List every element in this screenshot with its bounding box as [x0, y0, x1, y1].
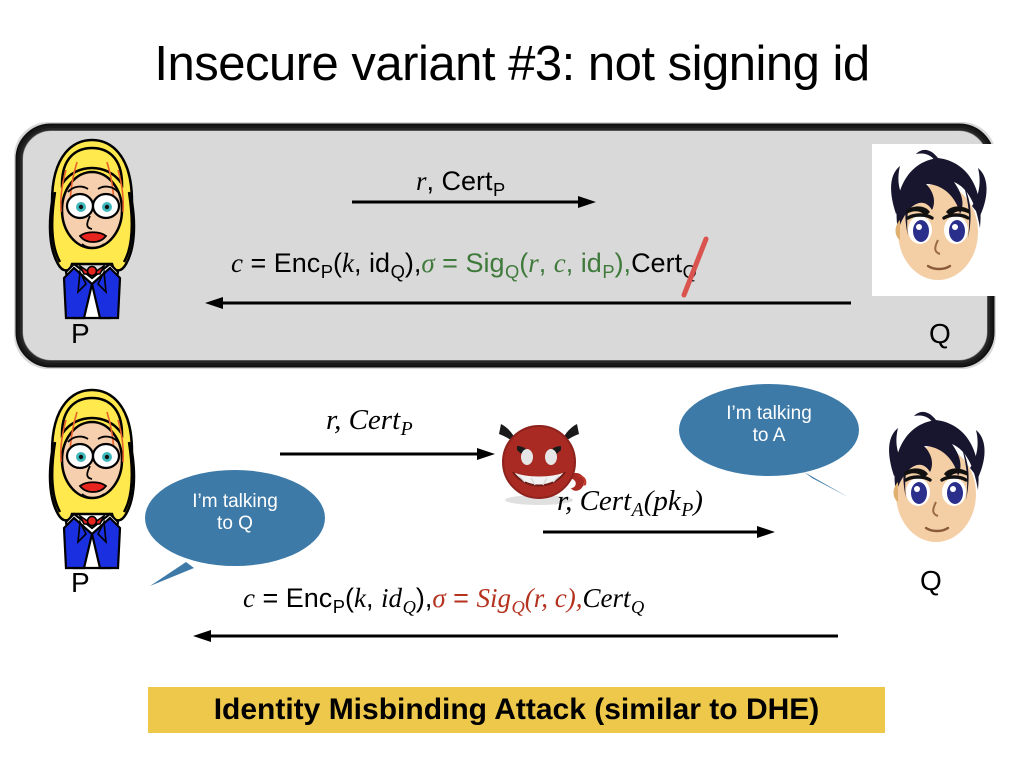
arrow-q-to-p-1 — [205, 296, 851, 310]
speech-bubble-q-text: I’m talking to A — [676, 403, 862, 448]
protocol-message-2: c = EncP(k, idQ),σ = SigQ(r, c, idP),Cer… — [231, 250, 697, 281]
arrow-attacker-to-q — [543, 525, 775, 539]
speech-bubble-q: I’m talking to A — [676, 380, 862, 497]
party-label-p-top: P — [71, 318, 90, 350]
avatar-p-blonde-woman — [22, 132, 162, 320]
speech-bubble-p: I’m talking to Q — [142, 466, 328, 586]
page-title: Insecure variant #3: not signing id — [0, 36, 1024, 92]
arrow-p-to-attacker — [280, 447, 495, 461]
speech-bubble-p-text: I’m talking to Q — [142, 491, 328, 536]
attack-message-3: c = EncP(k, idQ),σ = SigQ(r, c),CertQ — [243, 585, 644, 616]
arrow-q-to-p-attack — [193, 629, 838, 643]
party-label-q-top: Q — [929, 318, 951, 350]
attack-banner: Identity Misbinding Attack (similar to D… — [148, 687, 885, 733]
party-label-q-bottom: Q — [920, 565, 942, 597]
attack-banner-text: Identity Misbinding Attack (similar to D… — [148, 687, 885, 733]
party-label-p-bottom: P — [71, 567, 90, 599]
bubble-q-line2: to A — [676, 425, 862, 447]
attack-message-2: r, CertA(pkP) — [557, 487, 703, 521]
avatar-q-anime-man — [872, 144, 1004, 296]
avatar-p-blonde-woman-attack — [22, 382, 162, 570]
avatar-q-anime-man-attack — [870, 402, 1002, 562]
arrow-p-to-q-1 — [352, 195, 596, 209]
bubble-p-line2: to Q — [142, 513, 328, 535]
attack-message-1: r, CertP — [326, 406, 413, 440]
bubble-q-line1: I’m talking — [676, 403, 862, 425]
bubble-p-line1: I’m talking — [142, 491, 328, 513]
